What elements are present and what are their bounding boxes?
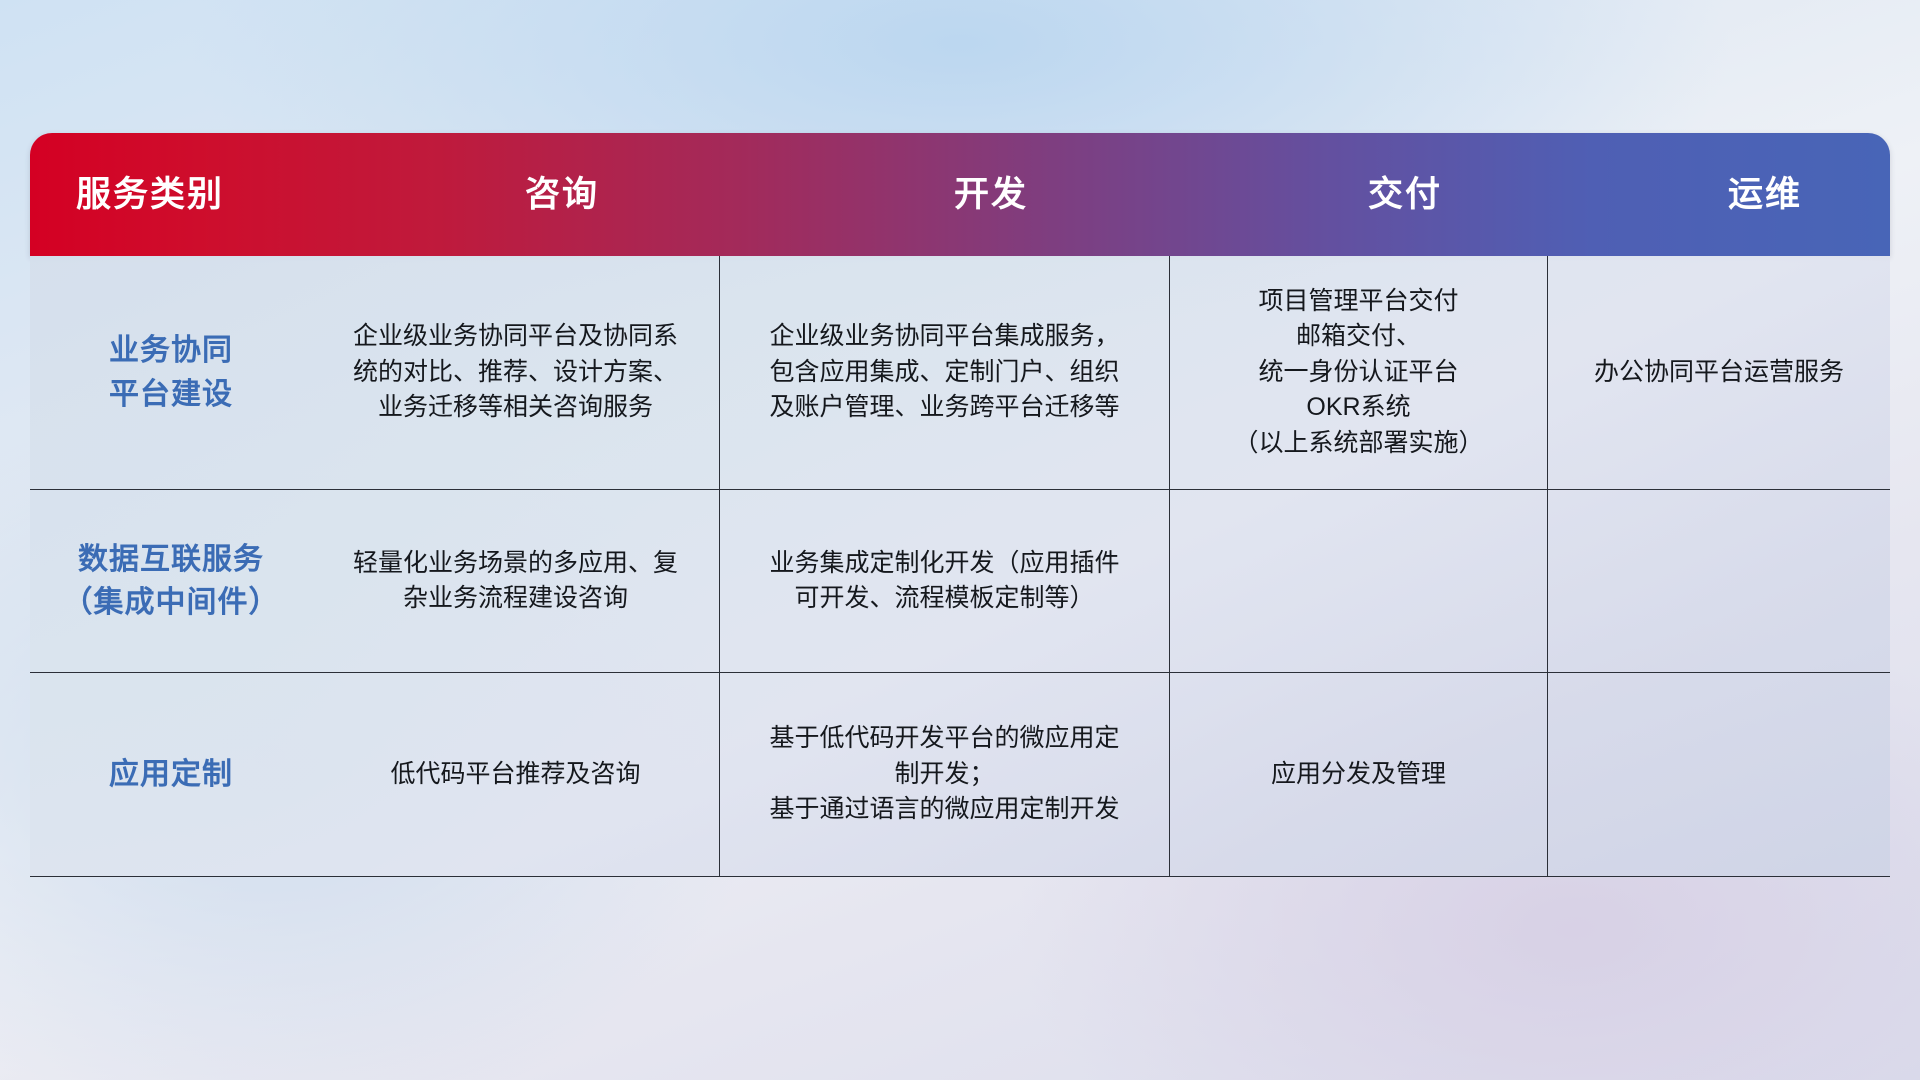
cell-operations (1548, 490, 1890, 672)
column-header-category: 服务类别 (30, 133, 358, 256)
row-label-text: 应用定制 (109, 753, 233, 797)
cell-consulting: 低代码平台推荐及咨询 (312, 673, 720, 876)
table-row: 业务协同 平台建设 企业级业务协同平台及协同系 统的对比、推荐、设计方案、 业务… (30, 256, 1890, 490)
cell-development: 企业级业务协同平台集成服务， 包含应用集成、定制门户、组织 及账户管理、业务跨平… (720, 256, 1170, 489)
cell-development: 基于低代码开发平台的微应用定 制开发； 基于通过语言的微应用定制开发 (720, 673, 1170, 876)
cell-consulting: 轻量化业务场景的多应用、复 杂业务流程建设咨询 (312, 490, 720, 672)
cell-operations (1548, 673, 1890, 876)
service-matrix-table: 服务类别 咨询 开发 交付 运维 业务协同 平台建设 企业级业务协同平台及协同系… (30, 133, 1890, 958)
row-label-text: 业务协同 平台建设 (109, 329, 233, 416)
cell-consulting: 企业级业务协同平台及协同系 统的对比、推荐、设计方案、 业务迁移等相关咨询服务 (312, 256, 720, 489)
slide-canvas: 服务类别 咨询 开发 交付 运维 业务协同 平台建设 企业级业务协同平台及协同系… (0, 0, 1920, 1080)
column-header-operations: 运维 (1594, 133, 1890, 256)
cell-development: 业务集成定制化开发（应用插件 可开发、流程模板定制等） (720, 490, 1170, 672)
cell-delivery: 项目管理平台交付 邮箱交付、 统一身份认证平台 OKR系统 （以上系统部署实施） (1170, 256, 1548, 489)
cell-delivery: 应用分发及管理 (1170, 673, 1548, 876)
row-label-cell: 业务协同 平台建设 (30, 256, 312, 489)
row-label-cell: 数据互联服务 （集成中间件） (30, 490, 312, 672)
column-header-development: 开发 (766, 133, 1216, 256)
cell-delivery (1170, 490, 1548, 672)
row-label-text: 数据互联服务 （集成中间件） (63, 538, 280, 625)
table-row: 应用定制 低代码平台推荐及咨询 基于低代码开发平台的微应用定 制开发； 基于通过… (30, 673, 1890, 877)
cell-operations: 办公协同平台运营服务 (1548, 256, 1890, 489)
table-body: 业务协同 平台建设 企业级业务协同平台及协同系 统的对比、推荐、设计方案、 业务… (30, 256, 1890, 877)
table-row: 数据互联服务 （集成中间件） 轻量化业务场景的多应用、复 杂业务流程建设咨询 业… (30, 490, 1890, 673)
row-label-cell: 应用定制 (30, 673, 312, 876)
column-header-consulting: 咨询 (358, 133, 766, 256)
column-header-delivery: 交付 (1216, 133, 1594, 256)
table-header-row: 服务类别 咨询 开发 交付 运维 (30, 133, 1890, 256)
